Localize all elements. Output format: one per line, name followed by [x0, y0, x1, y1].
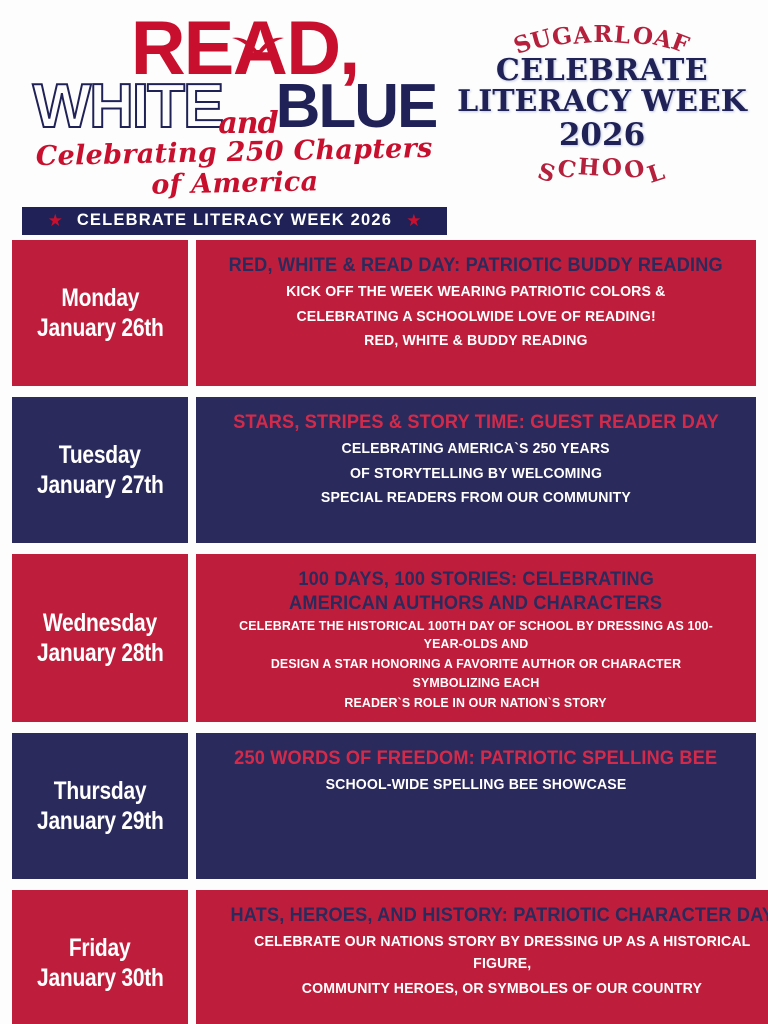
day-date: January 28th [37, 638, 164, 669]
event-body-line: CELEBRATING AMERICA`S 250 YEARS [342, 438, 610, 460]
logo-word-read: READ, [22, 14, 447, 84]
poster-header: READ, WHITEandBLUE Celebrating 250 Chapt… [0, 0, 768, 240]
seal-arc-top-char: R [593, 21, 614, 48]
event-body-line: CELEBRATING A SCHOOLWIDE LOVE OF READING… [296, 306, 655, 328]
logo-tagline: Celebrating 250 Chapters of America [21, 132, 447, 203]
event-body-line: KICK OFF THE WEEK WEARING PATRIOTIC COLO… [286, 281, 665, 303]
event-body-line: CELEBRATE THE HISTORICAL 100TH DAY OF SC… [226, 617, 726, 654]
day-name: Thursday [54, 776, 147, 807]
day-label-friday: Friday January 30th [12, 890, 188, 1024]
day-date: January 27th [37, 470, 164, 501]
event-title: 100 DAYS, 100 STORIES: CELEBRATING [298, 568, 654, 592]
event-content-monday: RED, WHITE & READ DAY: PATRIOTIC BUDDY R… [196, 240, 756, 386]
schedule-row-thursday: Thursday January 29th 250 WORDS OF FREED… [12, 733, 756, 879]
schedule-row-tuesday: Tuesday January 27th STARS, STRIPES & ST… [12, 397, 756, 543]
seal-arc-top-char: A [572, 21, 594, 50]
event-title: HATS, HEROES, AND HISTORY: PATRIOTIC CHA… [230, 904, 768, 928]
event-body-line: SPECIAL READERS FROM OUR COMMUNITY [321, 487, 631, 509]
seal-arc-top: SUGARLOAF [452, 22, 752, 56]
read-white-blue-logo: READ, WHITEandBLUE Celebrating 250 Chapt… [22, 14, 447, 235]
star-icon-left: ★ [48, 212, 63, 229]
seal-arc-bottom: SCHOOL [452, 154, 752, 188]
seal-arc-bottom-char: O [622, 154, 649, 185]
event-title: 250 WORDS OF FREEDOM: PATRIOTIC SPELLING… [234, 747, 717, 771]
day-label-thursday: Thursday January 29th [12, 733, 188, 879]
event-body-line: OF STORYTELLING BY WELCOMING [350, 463, 602, 485]
week-schedule: Monday January 26th RED, WHITE & READ DA… [0, 240, 768, 1024]
day-name: Wednesday [43, 608, 157, 639]
schedule-row-monday: Monday January 26th RED, WHITE & READ DA… [12, 240, 756, 386]
event-content-friday: HATS, HEROES, AND HISTORY: PATRIOTIC CHA… [196, 890, 768, 1024]
day-name: Monday [61, 283, 139, 314]
event-content-thursday: 250 WORDS OF FREEDOM: PATRIOTIC SPELLING… [196, 733, 756, 879]
event-content-tuesday: STARS, STRIPES & STORY TIME: GUEST READE… [196, 397, 756, 543]
day-name: Tuesday [59, 440, 141, 471]
event-body-line: READER`S ROLE IN OUR NATION`S STORY [345, 694, 607, 713]
event-body-line: CELEBRATE OUR NATIONS STORY BY DRESSING … [228, 931, 768, 975]
event-title: RED, WHITE & READ DAY: PATRIOTIC BUDDY R… [229, 254, 723, 278]
day-label-tuesday: Tuesday January 27th [12, 397, 188, 543]
event-body-line: RED, WHITE & BUDDY READING [364, 330, 588, 352]
seal-year: 2026 [452, 118, 752, 152]
day-label-monday: Monday January 26th [12, 240, 188, 386]
seal-title-line2: LITERACY WEEK [452, 87, 752, 118]
logo-read-prefix: RE [131, 6, 233, 91]
seal-arc-bottom-char: L [644, 157, 670, 188]
school-seal: SUGARLOAF CELEBRATE LITERACY WEEK 2026 S… [452, 22, 752, 188]
star-icon-right: ★ [406, 212, 421, 229]
day-date: January 29th [37, 806, 164, 837]
day-date: January 30th [37, 963, 164, 994]
day-label-wednesday: Wednesday January 28th [12, 554, 188, 722]
event-title-line2: AMERICAN AUTHORS AND CHARACTERS [289, 592, 662, 616]
event-body-line: COMMUNITY HEROES, OR SYMBOLES OF OUR COU… [302, 978, 702, 1000]
event-body-line: SCHOOL-WIDE SPELLING BEE SHOWCASE [326, 774, 627, 796]
seal-title-line1: CELEBRATE [452, 56, 752, 87]
logo-banner-text: CELEBRATE LITERACY WEEK 2026 [77, 211, 392, 230]
logo-read-suffix: D, [286, 6, 358, 91]
logo-open-book-a-icon: A [232, 14, 286, 84]
day-name: Friday [69, 933, 131, 964]
seal-arc-bottom-char: H [578, 153, 604, 182]
event-title: STARS, STRIPES & STORY TIME: GUEST READE… [233, 411, 719, 435]
event-body-line: DESIGN A STAR HONORING A FAVORITE AUTHOR… [226, 655, 726, 692]
event-content-wednesday: 100 DAYS, 100 STORIES: CELEBRATING AMERI… [196, 554, 756, 722]
schedule-row-wednesday: Wednesday January 28th 100 DAYS, 100 STO… [12, 554, 756, 722]
logo-banner: ★ CELEBRATE LITERACY WEEK 2026 ★ [22, 207, 447, 235]
schedule-row-friday: Friday January 30th HATS, HEROES, AND HI… [12, 890, 756, 1024]
day-date: January 26th [37, 313, 164, 344]
